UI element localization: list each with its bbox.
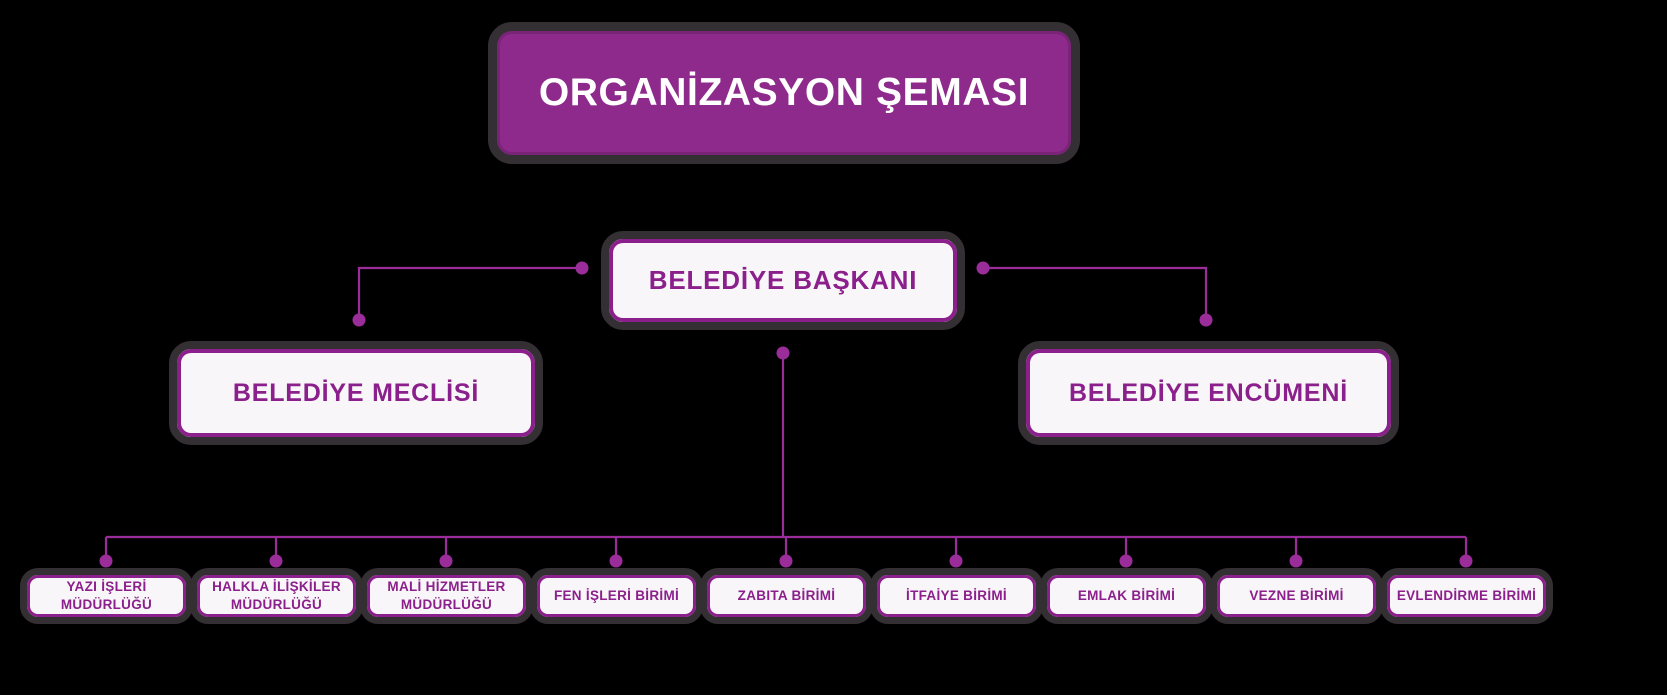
node-belediye-baskani-label: BELEDİYE BAŞKANI [649, 266, 918, 296]
node-unit[interactable]: FEN İŞLERİ BİRİMİ [530, 568, 703, 624]
connector-dot [1460, 555, 1473, 568]
connector-dot [353, 314, 366, 327]
node-unit[interactable]: VEZNE BİRİMİ [1210, 568, 1383, 624]
node-unit[interactable]: İTFAİYE BİRİMİ [870, 568, 1043, 624]
node-unit-label: ZABITA BİRİMİ [738, 587, 836, 605]
connector-dot [1290, 555, 1303, 568]
node-unit[interactable]: MALİ HİZMETLER MÜDÜRLÜĞÜ [360, 568, 533, 624]
connector-dot [1200, 314, 1213, 327]
node-title-label: ORGANİZASYON ŞEMASI [539, 72, 1029, 115]
node-belediye-meclisi[interactable]: BELEDİYE MECLİSİ [169, 341, 543, 445]
connector-dot [777, 347, 790, 360]
connector-dot [440, 555, 453, 568]
node-unit[interactable]: YAZI İŞLERİ MÜDÜRLÜĞÜ [20, 568, 193, 624]
connector-dot [576, 262, 589, 275]
node-unit[interactable]: HALKLA İLİŞKİLER MÜDÜRLÜĞÜ [190, 568, 363, 624]
node-unit[interactable]: ZABITA BİRİMİ [700, 568, 873, 624]
node-unit-label: EVLENDİRME BİRİMİ [1397, 587, 1536, 605]
node-unit[interactable]: EMLAK BİRİMİ [1040, 568, 1213, 624]
connector-dot [270, 555, 283, 568]
node-unit-label: EMLAK BİRİMİ [1078, 587, 1175, 605]
node-unit[interactable]: EVLENDİRME BİRİMİ [1380, 568, 1553, 624]
node-belediye-encumeni[interactable]: BELEDİYE ENCÜMENİ [1018, 341, 1399, 445]
connector-president-to-encumeni [983, 268, 1206, 320]
node-unit-label: VEZNE BİRİMİ [1249, 587, 1343, 605]
connector-dot [977, 262, 990, 275]
node-unit-label: YAZI İŞLERİ MÜDÜRLÜĞÜ [61, 578, 152, 614]
connector-dot [610, 555, 623, 568]
node-title: ORGANİZASYON ŞEMASI [488, 22, 1080, 164]
org-chart-canvas: ORGANİZASYON ŞEMASI BELEDİYE BAŞKANI BEL… [0, 0, 1667, 695]
node-belediye-baskani[interactable]: BELEDİYE BAŞKANI [601, 231, 965, 330]
connector-dot [780, 555, 793, 568]
node-unit-label: FEN İŞLERİ BİRİMİ [554, 587, 679, 605]
node-unit-label: HALKLA İLİŞKİLER MÜDÜRLÜĞÜ [212, 578, 341, 614]
node-unit-label: MALİ HİZMETLER MÜDÜRLÜĞÜ [387, 578, 505, 614]
node-belediye-encumeni-label: BELEDİYE ENCÜMENİ [1069, 379, 1348, 408]
connector-dot [1120, 555, 1133, 568]
node-unit-label: İTFAİYE BİRİMİ [906, 587, 1007, 605]
node-belediye-meclisi-label: BELEDİYE MECLİSİ [233, 379, 479, 408]
connector-president-to-meclisi [359, 268, 582, 320]
connector-dot [950, 555, 963, 568]
connector-dot [100, 555, 113, 568]
